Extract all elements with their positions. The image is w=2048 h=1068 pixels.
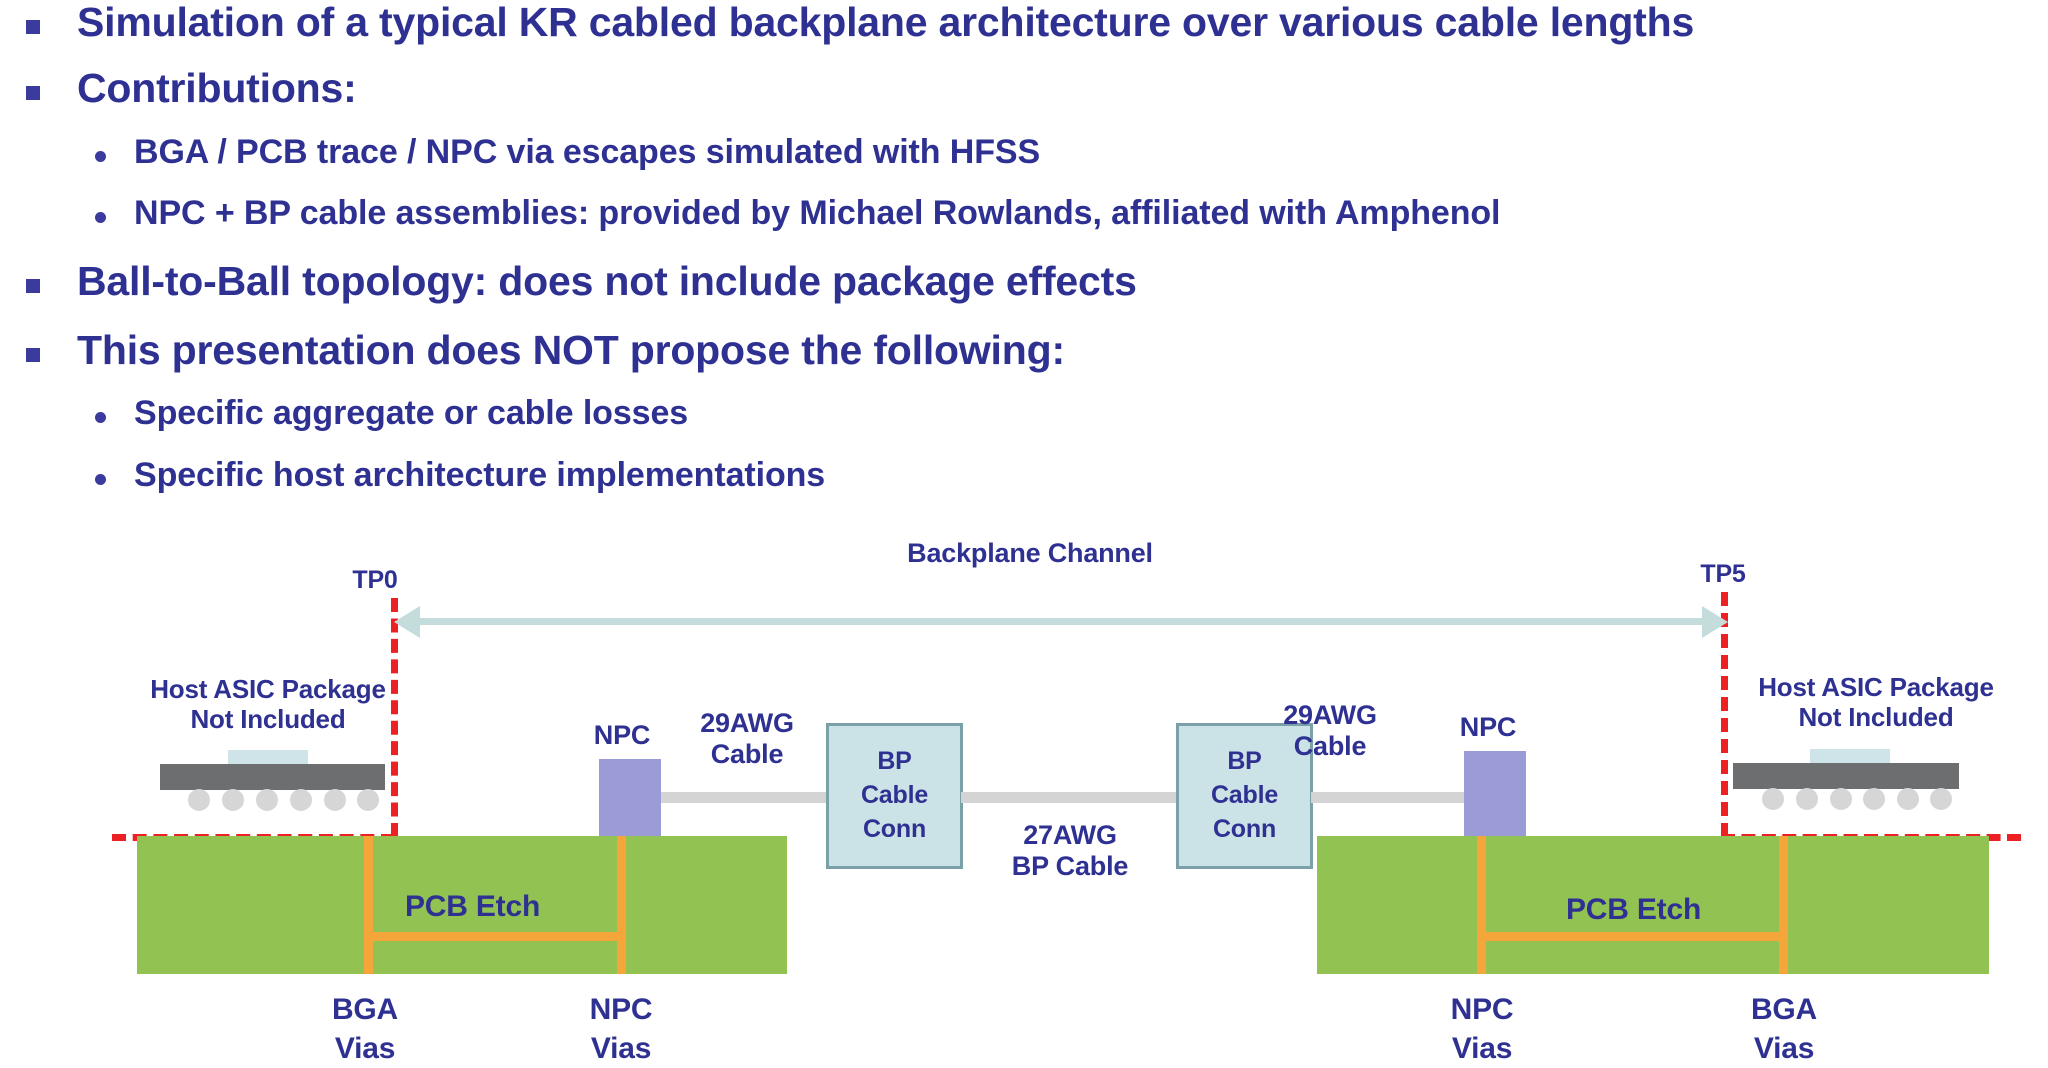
bullet-text: Ball-to-Ball topology: does not include … bbox=[77, 261, 1137, 302]
left-bga-via bbox=[364, 836, 373, 974]
bga-right-line2: Vias bbox=[1754, 1032, 1814, 1065]
right-host-asic-package-label: Host ASIC PackageNot Included bbox=[1736, 673, 2016, 733]
left-npc-label: NPC bbox=[575, 720, 669, 751]
bullet-text: BGA / PCB trace / NPC via escapes simula… bbox=[134, 135, 1040, 169]
right-bp-conn-line3: Conn bbox=[1213, 813, 1276, 847]
bga-ball bbox=[357, 789, 379, 811]
bga-left-line2: Vias bbox=[335, 1032, 395, 1065]
center-27awg-bp-cable-label: 27AWGBP Cable bbox=[955, 820, 1185, 882]
bga-ball bbox=[1930, 788, 1952, 810]
bga-ball bbox=[256, 789, 278, 811]
bullet-item-6: This presentation does NOT propose the f… bbox=[26, 330, 1065, 371]
dot-bullet-icon bbox=[95, 151, 106, 162]
right-cable-line2: Cable bbox=[1294, 731, 1367, 761]
left-package-die bbox=[228, 750, 308, 764]
right-bga-vias-label: BGAVias bbox=[1704, 990, 1864, 1068]
left-host-asic-package-label: Host ASIC PackageNot Included bbox=[128, 675, 408, 735]
bga-ball bbox=[290, 789, 312, 811]
bga-ball bbox=[1863, 788, 1885, 810]
center-27awg-bp-cable bbox=[961, 792, 1178, 803]
right-npc-via bbox=[1477, 836, 1486, 974]
bullet-text: Specific host architecture implementatio… bbox=[134, 458, 825, 492]
dot-bullet-icon bbox=[95, 474, 106, 485]
right-29awg-cable-label: 29AWGCable bbox=[1265, 700, 1395, 762]
backplane-channel-arrow-line bbox=[420, 618, 1702, 625]
bga-right-line1: BGA bbox=[1751, 993, 1817, 1026]
bga-ball bbox=[1830, 788, 1852, 810]
bga-ball bbox=[1897, 788, 1919, 810]
left-cable-line2: Cable bbox=[711, 739, 784, 769]
right-package-line2: Not Included bbox=[1798, 702, 1953, 732]
bga-ball bbox=[222, 789, 244, 811]
bga-ball bbox=[1796, 788, 1818, 810]
backplane-channel-label: Backplane Channel bbox=[830, 538, 1230, 569]
left-bp-conn-line2: Cable bbox=[861, 779, 928, 813]
backplane-channel-arrow-head-right bbox=[1702, 606, 1728, 638]
left-package-substrate bbox=[160, 764, 385, 790]
dot-bullet-icon bbox=[95, 212, 106, 223]
npc-right-line2: Vias bbox=[1452, 1032, 1512, 1065]
left-npc-vias-label: NPCVias bbox=[541, 990, 701, 1068]
square-bullet-icon bbox=[26, 20, 40, 34]
bullet-item-3: BGA / PCB trace / NPC via escapes simula… bbox=[95, 135, 1040, 169]
right-npc-vias-label: NPCVias bbox=[1402, 990, 1562, 1068]
bullet-item-7: Specific aggregate or cable losses bbox=[95, 396, 688, 430]
right-cable-line1: 29AWG bbox=[1283, 700, 1377, 730]
right-npc-label: NPC bbox=[1441, 712, 1535, 743]
npc-left-line2: Vias bbox=[591, 1032, 651, 1065]
left-npc-via bbox=[617, 836, 626, 974]
left-pcb-etch-trace bbox=[364, 932, 626, 941]
right-package-line1: Host ASIC Package bbox=[1758, 672, 1994, 702]
left-bp-conn-line3: Conn bbox=[863, 813, 926, 847]
dot-bullet-icon bbox=[95, 412, 106, 423]
right-bga-via bbox=[1779, 836, 1788, 974]
test-point-tp5-label: TP5 bbox=[1683, 560, 1763, 589]
bullet-item-5: Ball-to-Ball topology: does not include … bbox=[26, 261, 1137, 302]
bullet-item-2: Contributions: bbox=[26, 68, 357, 109]
left-cable-line1: 29AWG bbox=[700, 708, 794, 738]
square-bullet-icon bbox=[26, 279, 40, 293]
right-bp-conn-line1: BP bbox=[1227, 745, 1261, 779]
bullet-text: NPC + BP cable assemblies: provided by M… bbox=[134, 196, 1500, 230]
bp-cable-line1: 27AWG bbox=[1023, 820, 1117, 850]
right-package-die bbox=[1810, 749, 1890, 763]
bga-ball bbox=[1762, 788, 1784, 810]
left-npc-connector bbox=[599, 759, 661, 836]
slide-text-body: Simulation of a typical KR cabled backpl… bbox=[0, 0, 2048, 540]
right-bp-conn-line2: Cable bbox=[1211, 779, 1278, 813]
test-point-tp0-label: TP0 bbox=[335, 566, 415, 595]
bullet-item-4: NPC + BP cable assemblies: provided by M… bbox=[95, 196, 1500, 230]
bullet-item-1: Simulation of a typical KR cabled backpl… bbox=[26, 2, 1694, 43]
left-pcb-etch-label: PCB Etch bbox=[405, 890, 540, 924]
bp-cable-line2: BP Cable bbox=[1012, 851, 1128, 881]
square-bullet-icon bbox=[26, 86, 40, 100]
npc-left-line1: NPC bbox=[590, 993, 653, 1026]
right-npc-connector bbox=[1464, 751, 1526, 836]
bullet-item-8: Specific host architecture implementatio… bbox=[95, 458, 825, 492]
right-pcb-etch-trace bbox=[1477, 932, 1788, 941]
left-29awg-cable bbox=[661, 792, 828, 803]
right-pcb-etch-label: PCB Etch bbox=[1566, 893, 1701, 927]
right-package-substrate bbox=[1733, 763, 1959, 789]
left-bp-cable-connector: BP Cable Conn bbox=[826, 723, 963, 869]
backplane-channel-arrow-head-left bbox=[394, 606, 420, 638]
npc-right-line1: NPC bbox=[1451, 993, 1514, 1026]
right-29awg-cable bbox=[1311, 792, 1481, 803]
square-bullet-icon bbox=[26, 348, 40, 362]
left-bga-vias-label: BGAVias bbox=[285, 990, 445, 1068]
bullet-text: Contributions: bbox=[77, 68, 357, 109]
bullet-text: Specific aggregate or cable losses bbox=[134, 396, 688, 430]
bullet-text: This presentation does NOT propose the f… bbox=[77, 330, 1065, 371]
backplane-architecture-diagram: TP0 TP5 Backplane Channel Host ASIC Pack… bbox=[0, 540, 2048, 992]
bga-ball bbox=[188, 789, 210, 811]
bga-ball bbox=[324, 789, 346, 811]
bullet-text: Simulation of a typical KR cabled backpl… bbox=[77, 2, 1694, 43]
left-bp-conn-line1: BP bbox=[877, 745, 911, 779]
left-package-line2: Not Included bbox=[190, 704, 345, 734]
left-29awg-cable-label: 29AWGCable bbox=[682, 708, 812, 770]
bga-left-line1: BGA bbox=[332, 993, 398, 1026]
left-package-line1: Host ASIC Package bbox=[150, 674, 386, 704]
